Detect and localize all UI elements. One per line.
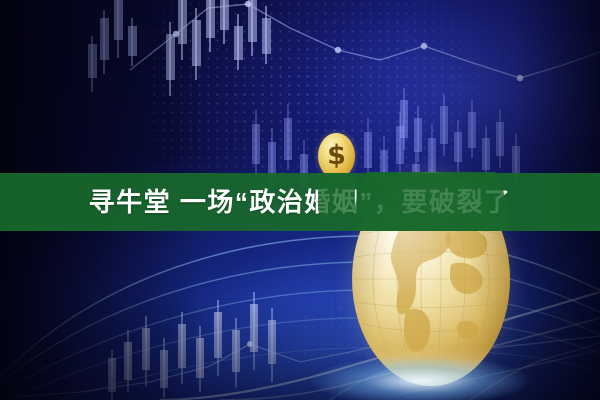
- dollar-sign-icon: $: [327, 142, 346, 169]
- title-band: 寻牛堂 一场“政治婚姻”，要破裂了: [0, 173, 600, 231]
- page-title: 寻牛堂 一场“政治婚姻”，要破裂了: [89, 189, 512, 215]
- banner-image: $ 寻牛堂 一场“政治婚姻”，要破裂了: [0, 0, 600, 400]
